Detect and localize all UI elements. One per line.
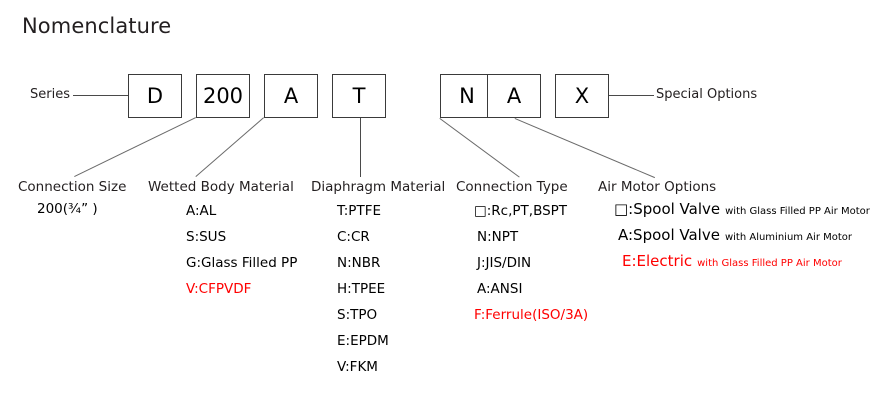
- option-air-motor-options-0-main: □:Spool Valve: [614, 200, 720, 218]
- option-connection-size-0: 200(¾” ): [37, 203, 98, 217]
- column-header-connection-type: Connection Type: [456, 179, 568, 195]
- option-connection-type-4: F:Ferrule(ISO/3A): [474, 309, 588, 323]
- option-wetted-body-material-0: A:AL: [186, 205, 216, 219]
- option-air-motor-options-2-suffix: with Glass Filled PP Air Motor: [697, 258, 842, 269]
- series-label: Series: [30, 87, 70, 102]
- leader-line-wetted-body-material: [195, 117, 264, 177]
- option-connection-type-2: J:JIS/DIN: [477, 257, 531, 271]
- option-diaphragm-material-5: E:EPDM: [337, 335, 389, 349]
- code-box-connection-type: N: [440, 74, 494, 118]
- option-diaphragm-material-2: N:NBR: [337, 257, 380, 271]
- column-header-diaphragm-material: Diaphragm Material: [311, 179, 445, 195]
- code-box-diaphragm-material-value: T: [333, 75, 385, 117]
- option-connection-type-1: N:NPT: [477, 231, 518, 245]
- leader-line-connection-type: [439, 118, 519, 178]
- code-box-wetted-body-material: A: [264, 74, 318, 118]
- option-diaphragm-material-4: S:TPO: [337, 309, 377, 323]
- column-header-air-motor-options: Air Motor Options: [598, 179, 716, 195]
- code-box-wetted-body-material-value: A: [265, 75, 317, 117]
- option-connection-type-3: A:ANSI: [477, 283, 522, 297]
- option-air-motor-options-2-main: E:Electric: [622, 252, 692, 270]
- option-air-motor-options-0-suffix: with Glass Filled PP Air Motor: [725, 206, 870, 217]
- option-diaphragm-material-1: C:CR: [337, 231, 370, 245]
- code-box-connection-type-value: N: [441, 75, 493, 117]
- code-box-air-motor-options: A: [487, 74, 541, 118]
- special-options-label: Special Options: [656, 87, 757, 102]
- leader-line-connection-size: [74, 117, 196, 177]
- option-air-motor-options-1-suffix: with Aluminium Air Motor: [725, 232, 852, 243]
- series-connector-line: [73, 95, 128, 96]
- code-box-series: D: [128, 74, 182, 118]
- page-title: Nomenclature: [22, 14, 171, 38]
- code-box-special-options-value: X: [556, 75, 608, 117]
- code-box-series-value: D: [129, 75, 181, 117]
- leader-line-air-motor-options: [515, 118, 655, 178]
- column-header-wetted-body-material: Wetted Body Material: [148, 179, 294, 195]
- option-air-motor-options-2: E:Electricwith Glass Filled PP Air Motor: [622, 254, 842, 269]
- option-connection-type-0: □:Rc,PT,BSPT: [474, 205, 567, 219]
- special-options-connector-line: [609, 95, 654, 96]
- code-box-special-options: X: [555, 74, 609, 118]
- option-diaphragm-material-0: T:PTFE: [337, 205, 381, 219]
- option-wetted-body-material-1: S:SUS: [186, 231, 226, 245]
- leader-line-diaphragm-material: [360, 118, 361, 177]
- code-box-connection-size-value: 200: [197, 75, 249, 117]
- option-air-motor-options-1-main: A:Spool Valve: [618, 226, 720, 244]
- code-box-air-motor-options-value: A: [488, 75, 540, 117]
- code-box-connection-size: 200: [196, 74, 250, 118]
- option-diaphragm-material-3: H:TPEE: [337, 283, 385, 297]
- column-header-connection-size: Connection Size: [18, 179, 126, 195]
- option-diaphragm-material-6: V:FKM: [337, 361, 378, 375]
- code-box-diaphragm-material: T: [332, 74, 386, 118]
- option-wetted-body-material-2: G:Glass Filled PP: [186, 257, 297, 271]
- option-air-motor-options-0: □:Spool Valvewith Glass Filled PP Air Mo…: [614, 202, 870, 217]
- option-wetted-body-material-3: V:CFPVDF: [186, 283, 251, 297]
- option-air-motor-options-1: A:Spool Valvewith Aluminium Air Motor: [618, 228, 852, 243]
- nomenclature-diagram: Nomenclature Series D 200 A T N - A X Sp…: [0, 0, 870, 404]
